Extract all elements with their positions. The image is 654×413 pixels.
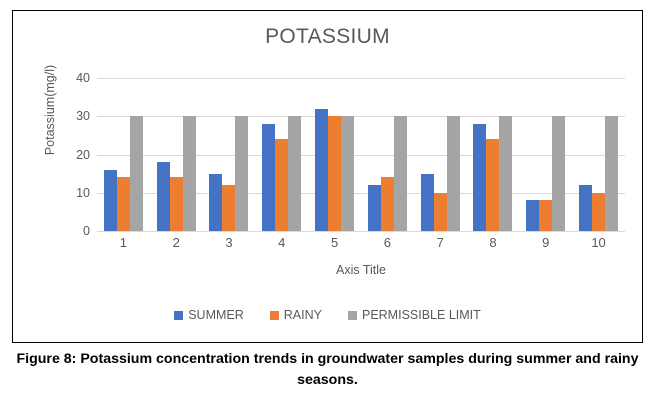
chart-legend: SUMMERRAINYPERMISSIBLE LIMIT	[13, 308, 642, 322]
bar-rainy[interactable]	[592, 193, 605, 231]
bar-permissible-limit[interactable]	[183, 116, 196, 231]
legend-item-summer[interactable]: SUMMER	[174, 308, 244, 322]
legend-label: RAINY	[284, 308, 322, 322]
bar-rainy[interactable]	[539, 200, 552, 231]
bar-summer[interactable]	[262, 124, 275, 231]
legend-swatch-icon	[348, 311, 357, 320]
bar-rainy[interactable]	[434, 193, 447, 231]
figure-page: POTASSIUM Potassium(mg/l) 010203040 1234…	[0, 0, 654, 413]
bar-group	[308, 78, 361, 231]
bar-permissible-limit[interactable]	[288, 116, 301, 231]
y-axis-tick-label: 20	[76, 148, 90, 162]
legend-item-rainy[interactable]: RAINY	[270, 308, 322, 322]
legend-label: SUMMER	[188, 308, 244, 322]
bar-group	[361, 78, 414, 231]
bar-summer[interactable]	[104, 170, 117, 231]
y-axis-tick-label: 30	[76, 109, 90, 123]
bar-summer[interactable]	[209, 174, 222, 231]
bar-summer[interactable]	[368, 185, 381, 231]
bar-summer[interactable]	[579, 185, 592, 231]
bar-group	[414, 78, 467, 231]
chart-title: POTASSIUM	[13, 25, 642, 49]
chart-container: POTASSIUM Potassium(mg/l) 010203040 1234…	[12, 10, 643, 343]
bar-rainy[interactable]	[222, 185, 235, 231]
x-axis-tick-label: 10	[572, 235, 625, 250]
bar-group	[150, 78, 203, 231]
y-axis-tick-label: 10	[76, 186, 90, 200]
bar-rainy[interactable]	[117, 177, 130, 231]
bar-permissible-limit[interactable]	[499, 116, 512, 231]
bar-permissible-limit[interactable]	[341, 116, 354, 231]
bar-summer[interactable]	[157, 162, 170, 231]
x-axis-tick-label: 4	[255, 235, 308, 250]
bar-summer[interactable]	[473, 124, 486, 231]
y-axis-title: Potassium(mg/l)	[43, 30, 57, 190]
bar-group	[467, 78, 520, 231]
x-axis-tick-label: 3	[203, 235, 256, 250]
gridline: 0	[97, 231, 625, 232]
bar-permissible-limit[interactable]	[552, 116, 565, 231]
bar-group	[572, 78, 625, 231]
bar-permissible-limit[interactable]	[130, 116, 143, 231]
x-axis-tick-label: 2	[150, 235, 203, 250]
x-axis-tick-labels: 12345678910	[97, 235, 625, 250]
legend-label: PERMISSIBLE LIMIT	[362, 308, 481, 322]
bar-permissible-limit[interactable]	[235, 116, 248, 231]
bar-rainy[interactable]	[486, 139, 499, 231]
y-axis-tick-label: 0	[83, 224, 90, 238]
x-axis-tick-label: 6	[361, 235, 414, 250]
bar-summer[interactable]	[421, 174, 434, 231]
bar-permissible-limit[interactable]	[605, 116, 618, 231]
bar-summer[interactable]	[315, 109, 328, 231]
legend-item-permissible-limit[interactable]: PERMISSIBLE LIMIT	[348, 308, 481, 322]
bar-group	[519, 78, 572, 231]
bar-rainy[interactable]	[275, 139, 288, 231]
legend-swatch-icon	[270, 311, 279, 320]
plot-area: 010203040	[97, 78, 625, 231]
bar-group	[97, 78, 150, 231]
x-axis-tick-label: 9	[519, 235, 572, 250]
bar-rainy[interactable]	[381, 177, 394, 231]
x-axis-title: Axis Title	[97, 263, 625, 277]
y-axis-tick-label: 40	[76, 71, 90, 85]
legend-swatch-icon	[174, 311, 183, 320]
figure-caption: Figure 8: Potassium concentration trends…	[12, 349, 643, 390]
bar-group	[203, 78, 256, 231]
bar-summer[interactable]	[526, 200, 539, 231]
bar-group	[255, 78, 308, 231]
bar-permissible-limit[interactable]	[447, 116, 460, 231]
x-axis-tick-label: 5	[308, 235, 361, 250]
x-axis-tick-label: 8	[467, 235, 520, 250]
bar-permissible-limit[interactable]	[394, 116, 407, 231]
bar-groups	[97, 78, 625, 231]
bar-rainy[interactable]	[170, 177, 183, 231]
x-axis-tick-label: 7	[414, 235, 467, 250]
x-axis-tick-label: 1	[97, 235, 150, 250]
bar-rainy[interactable]	[328, 116, 341, 231]
